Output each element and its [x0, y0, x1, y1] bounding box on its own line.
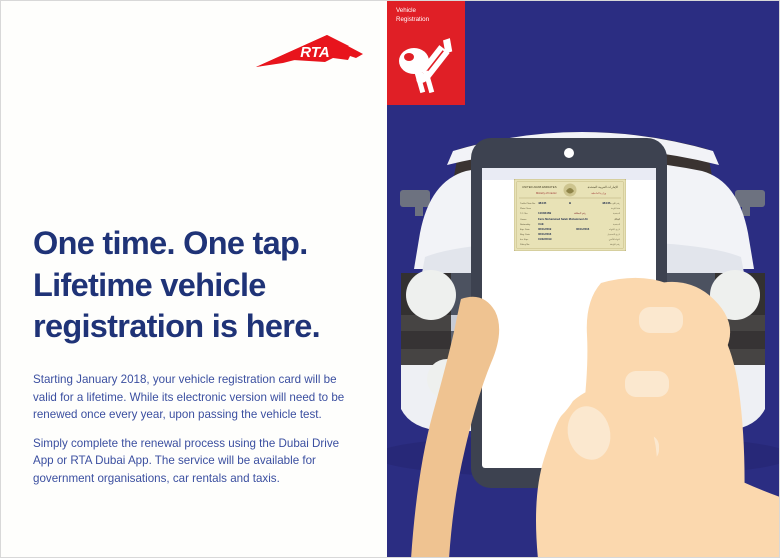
rta-logo: RTA: [253, 27, 365, 73]
vehicle-registration-badge: Vehicle Registration: [387, 1, 465, 105]
body-paragraph-1: Starting January 2018, your vehicle regi…: [33, 371, 355, 424]
index-nail: [639, 307, 683, 333]
headline-line-2: Lifetime vehicle: [33, 265, 373, 307]
supporting-thumb: [411, 297, 499, 557]
hand-holding-phone: [387, 131, 780, 557]
body-copy: Starting January 2018, your vehicle regi…: [33, 371, 355, 488]
page-headline: One time. One tap. Lifetime vehicle regi…: [33, 223, 373, 348]
headline-line-1: One time. One tap.: [33, 223, 373, 265]
badge-label: Vehicle Registration: [396, 7, 458, 25]
body-paragraph-2: Simply complete the renewal process usin…: [33, 435, 355, 488]
rta-logo-text: RTA: [300, 44, 329, 61]
left-content-panel: RTA One time. One tap. Lifetime vehicle …: [1, 1, 387, 557]
car-key-and-pen-icon: [393, 31, 459, 97]
badge-line-1: Vehicle: [396, 7, 458, 16]
badge-line-2: Registration: [396, 16, 458, 25]
right-illustration-panel: A DUBAI: [387, 1, 780, 557]
rta-vehicle-registration-poster: RTA One time. One tap. Lifetime vehicle …: [0, 0, 780, 558]
headline-line-3: registration is here.: [33, 306, 373, 348]
